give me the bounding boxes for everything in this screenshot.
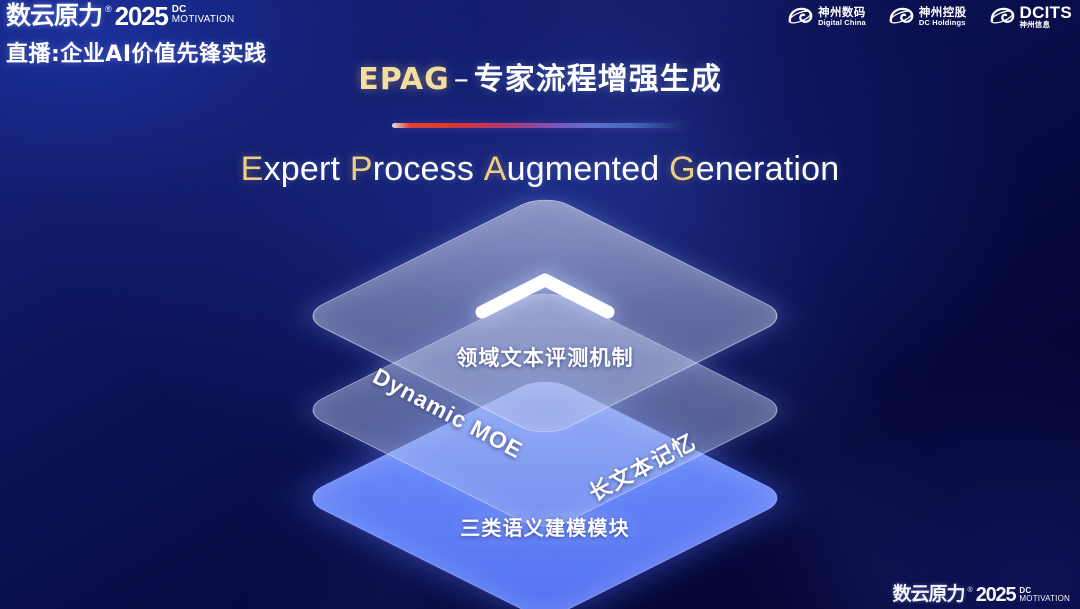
brand-logo: 数云原力 ® 2025 DC MOTIVATION xyxy=(6,3,267,29)
footer-brand-watermark: 数云原力 ® 2025 DC MOTIVATION xyxy=(893,585,1070,605)
partner-name-en: DCITS xyxy=(1020,4,1073,21)
layer-stack-diagram: 领域文本评测机制 Dynamic MOE 长文本记忆 三类语义建模模块 xyxy=(295,222,795,582)
expansion-initial-p: P xyxy=(350,150,373,188)
expansion-rest-e: xpert xyxy=(264,150,341,188)
partner-logo-group: 神州数码 Digital China 神州控股 DC Holdings DCIT… xyxy=(787,4,1072,29)
slide-canvas: 数云原力 ® 2025 DC MOTIVATION 直播:企业AI价值先锋实践 … xyxy=(0,0,1080,609)
live-session-label: 直播:企业AI价值先锋实践 xyxy=(6,36,267,68)
footer-brand-year: 2025 xyxy=(976,585,1016,605)
partner-name-en: Digital China xyxy=(818,19,866,27)
footer-brand-dc-line2: MOTIVATION xyxy=(1019,595,1070,603)
title-divider xyxy=(392,123,688,128)
expansion-initial-a: A xyxy=(484,150,507,188)
expansion-initial-e: E xyxy=(241,150,264,188)
partner-logo-text: 神州控股 DC Holdings xyxy=(919,7,967,26)
partner-logo-dcits: DCITS 神州信息 xyxy=(989,4,1073,29)
footer-brand-registered-mark: ® xyxy=(968,587,973,594)
brand-dc-motivation: DC MOTIVATION xyxy=(172,5,235,24)
swirl-icon xyxy=(888,6,914,26)
partner-name-cn: 神州信息 xyxy=(1020,21,1073,29)
chevron-up-icon xyxy=(472,270,618,322)
partner-name-en: DC Holdings xyxy=(919,19,967,27)
partner-logo-digital-china: 神州数码 Digital China xyxy=(787,6,866,26)
expansion-rest-g: eneration xyxy=(696,150,840,188)
swirl-icon xyxy=(787,6,813,26)
title-chinese: 专家流程增强生成 xyxy=(474,62,722,97)
partner-name-cn: 神州数码 xyxy=(818,7,866,19)
diagram-label-top: 领域文本评测机制 xyxy=(456,342,634,372)
partner-name-cn: 神州控股 xyxy=(919,7,967,19)
footer-brand-name-cn: 数云原力 xyxy=(893,585,965,604)
brand-registered-mark: ® xyxy=(105,5,112,14)
partner-logo-text: DCITS 神州信息 xyxy=(1020,4,1073,29)
brand-dc-line2: MOTIVATION xyxy=(172,15,235,25)
partner-logo-text: 神州数码 Digital China xyxy=(818,7,866,26)
title-acronym: EPAG xyxy=(358,62,450,97)
brand-name-cn: 数云原力 xyxy=(6,3,102,28)
header-left-block: 数云原力 ® 2025 DC MOTIVATION 直播:企业AI价值先锋实践 xyxy=(6,3,267,68)
title-dash: – xyxy=(450,62,474,97)
partner-logo-dc-holdings: 神州控股 DC Holdings xyxy=(888,6,967,26)
expansion-initial-g: G xyxy=(669,150,696,188)
swirl-icon xyxy=(989,6,1015,26)
acronym-expansion: Expert Process Augmented Generation xyxy=(0,150,1080,189)
brand-year: 2025 xyxy=(115,3,168,29)
expansion-rest-a: ugmented xyxy=(507,150,660,188)
footer-brand-dc-motivation: DC MOTIVATION xyxy=(1019,587,1070,602)
diagram-label-bottom: 三类语义建模模块 xyxy=(460,512,630,541)
expansion-rest-p: rocess xyxy=(373,150,474,188)
